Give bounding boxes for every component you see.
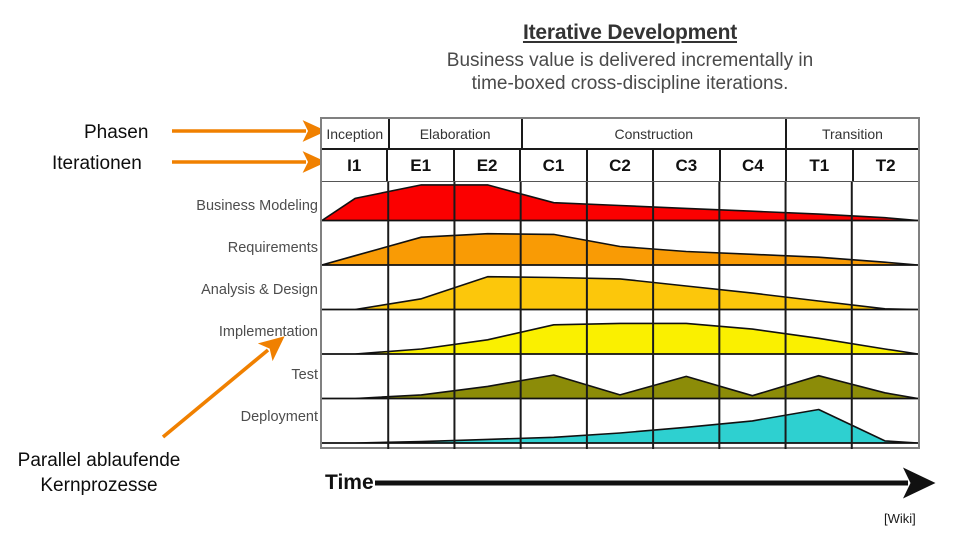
source-credit: [Wiki] bbox=[884, 511, 916, 526]
iteration-cell-t1[interactable]: T1 bbox=[787, 150, 853, 181]
discipline-hump-business-modeling bbox=[322, 185, 918, 221]
annotation-core-processes-label: Parallel ablaufende Kernprozesse bbox=[4, 448, 194, 498]
phase-cell-transition[interactable]: Transition bbox=[787, 119, 918, 148]
discipline-hump-requirements bbox=[322, 234, 918, 265]
time-axis-label: Time bbox=[325, 471, 374, 495]
phase-cell-label: Construction bbox=[614, 126, 693, 142]
iteration-cell-label: C2 bbox=[609, 156, 631, 176]
discipline-label-business-modeling: Business Modeling bbox=[150, 198, 318, 214]
iteration-cell-label: T2 bbox=[876, 156, 896, 176]
iteration-header-row: I1E1E2C1C2C3C4T1T2 bbox=[322, 150, 918, 182]
discipline-label-test: Test bbox=[150, 367, 318, 383]
iteration-cell-i1[interactable]: I1 bbox=[322, 150, 388, 181]
iteration-cell-c2[interactable]: C2 bbox=[588, 150, 654, 181]
discipline-hump-implementation bbox=[322, 323, 918, 354]
iteration-cell-label: E2 bbox=[477, 156, 498, 176]
phase-header-row: InceptionElaborationConstructionTransiti… bbox=[322, 119, 918, 150]
phase-cell-construction[interactable]: Construction bbox=[523, 119, 787, 148]
chart-subtitle-line-1: Business value is delivered incrementall… bbox=[330, 49, 930, 72]
discipline-hump-deployment bbox=[322, 410, 918, 444]
phase-cell-label: Transition bbox=[822, 126, 883, 142]
iteration-cell-e1[interactable]: E1 bbox=[388, 150, 454, 181]
phase-cell-label: Elaboration bbox=[420, 126, 491, 142]
iteration-cell-label: T1 bbox=[809, 156, 829, 176]
iteration-cell-c3[interactable]: C3 bbox=[654, 150, 720, 181]
iteration-cell-label: C1 bbox=[543, 156, 565, 176]
discipline-label-deployment: Deployment bbox=[150, 409, 318, 425]
discipline-hump-analysis-design bbox=[322, 277, 918, 310]
discipline-label-list: Business Modeling Requirements Analysis … bbox=[150, 180, 318, 450]
iteration-cell-t2[interactable]: T2 bbox=[854, 150, 918, 181]
iteration-cell-label: E1 bbox=[410, 156, 431, 176]
phase-cell-inception[interactable]: Inception bbox=[322, 119, 390, 148]
chart-subtitle-line-2: time-boxed cross-discipline iterations. bbox=[330, 72, 930, 95]
phase-cell-label: Inception bbox=[326, 126, 383, 142]
discipline-hump-test bbox=[322, 375, 918, 399]
discipline-humps-svg bbox=[322, 182, 918, 449]
phase-cell-elaboration[interactable]: Elaboration bbox=[390, 119, 523, 148]
discipline-label-analysis-design: Analysis & Design bbox=[150, 282, 318, 298]
iterative-development-chart: InceptionElaborationConstructionTransiti… bbox=[320, 117, 920, 449]
annotation-phases-label: Phasen bbox=[84, 122, 148, 144]
iteration-cell-c1[interactable]: C1 bbox=[521, 150, 587, 181]
iteration-cell-e2[interactable]: E2 bbox=[455, 150, 521, 181]
plot-area bbox=[322, 182, 918, 449]
iteration-cell-label: C3 bbox=[676, 156, 698, 176]
iteration-cell-label: I1 bbox=[347, 156, 361, 176]
chart-title-block: Iterative Development Business value is … bbox=[330, 20, 930, 95]
iteration-cell-label: C4 bbox=[742, 156, 764, 176]
page-title: Iterative Development bbox=[330, 20, 930, 46]
discipline-label-implementation: Implementation bbox=[150, 324, 318, 340]
annotation-iterations-label: Iterationen bbox=[52, 153, 142, 175]
iteration-cell-c4[interactable]: C4 bbox=[721, 150, 787, 181]
chart-subtitle: Business value is delivered incrementall… bbox=[330, 49, 930, 95]
discipline-label-requirements: Requirements bbox=[150, 240, 318, 256]
